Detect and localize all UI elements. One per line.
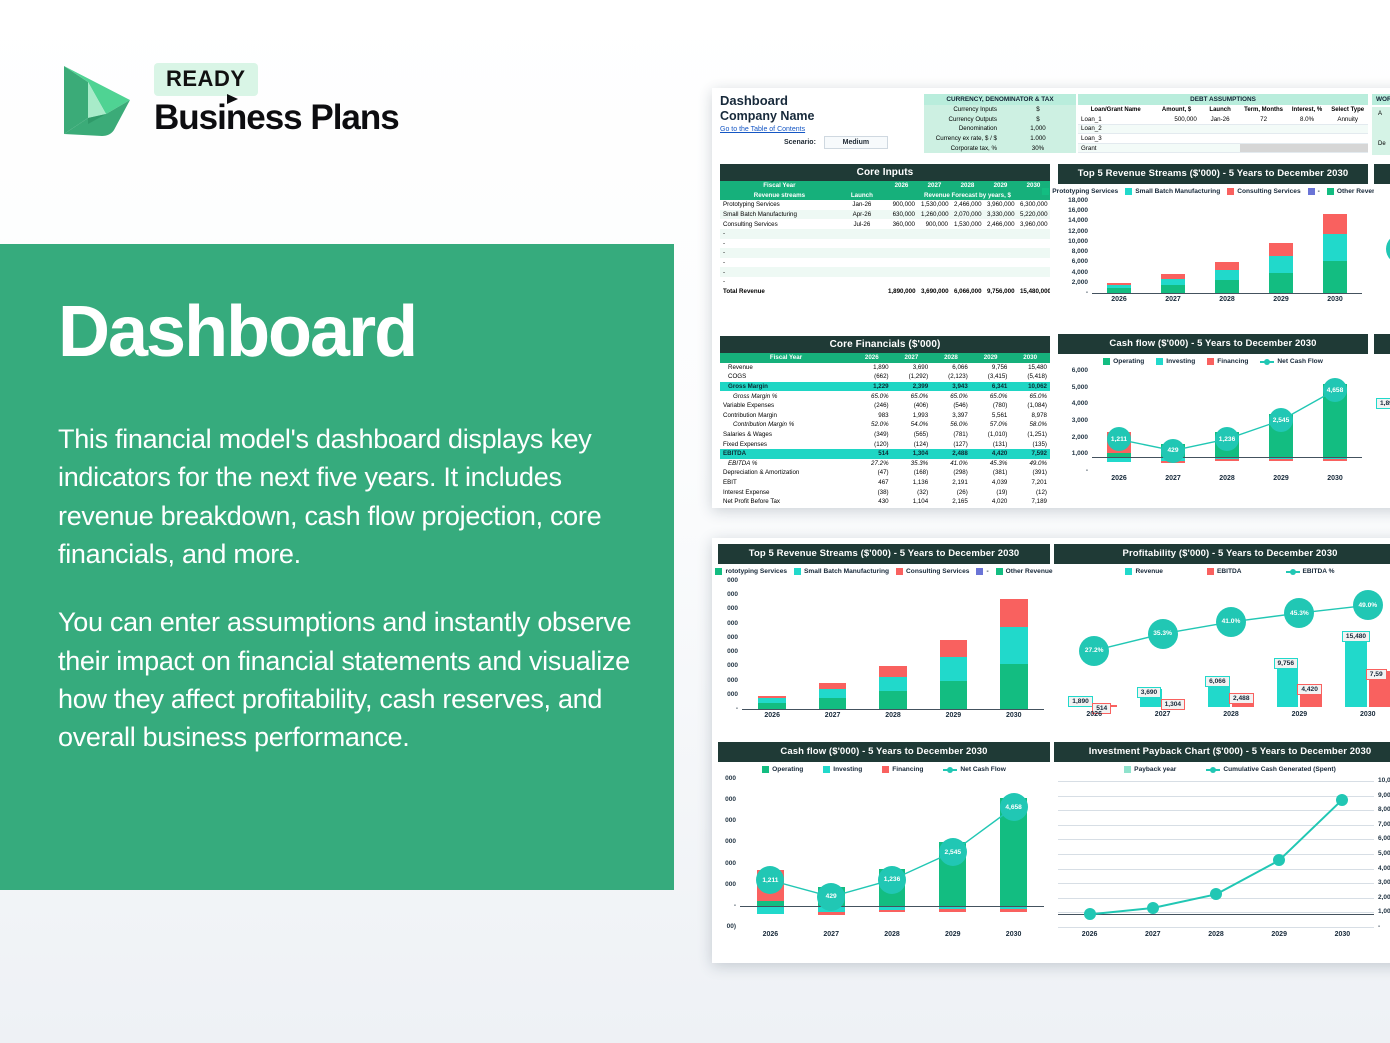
legend-swatch <box>996 568 1003 575</box>
legend-swatch <box>1103 358 1110 365</box>
chart-legend[interactable]: rototyping ServicesSmall Batch Manufactu… <box>718 564 1050 577</box>
legend-item[interactable]: Payback year <box>1124 766 1176 773</box>
stream-launch[interactable] <box>839 248 885 258</box>
row-value: 65.0% <box>852 391 892 401</box>
brand-ready-chip: READY <box>154 63 258 96</box>
row-value: (127) <box>931 439 971 449</box>
x-axis-label: 2028 <box>1211 296 1243 303</box>
row-label: Gross Margin <box>720 382 852 392</box>
bar-segment <box>819 683 847 689</box>
row-value: 41.0% <box>931 459 971 469</box>
bar-segment <box>758 696 786 699</box>
legend-swatch <box>823 766 830 773</box>
stream-value[interactable]: 900,000 <box>918 219 951 229</box>
stream-value[interactable]: 630,000 <box>885 210 918 220</box>
cell[interactable]: 8.0% <box>1287 115 1328 125</box>
stream-name[interactable]: Consulting Services <box>720 219 839 229</box>
legend-item[interactable]: Revenue <box>1125 568 1163 575</box>
row-value: 65.0% <box>931 391 971 401</box>
chart-legend[interactable]: Prototyping ServicesSmall Batch Manufact… <box>1058 184 1368 197</box>
table-row[interactable]: Tax Expense(129)(331)(649)(1,206)(2,157) <box>720 507 1050 509</box>
stream-name[interactable]: - <box>720 258 839 268</box>
data-point <box>1147 902 1159 914</box>
row-label: Salaries & Wages <box>720 430 852 440</box>
table-row[interactable]: Currency Outputs$ <box>924 115 1076 125</box>
cell[interactable]: Loan_3 <box>1078 134 1153 144</box>
table-row[interactable]: Small Batch ManufacturingApr-26630,0001,… <box>720 210 1050 220</box>
chart-cashflow-bottom[interactable]: Cash flow ($'000) - 5 Years to December … <box>718 742 1050 958</box>
cell[interactable] <box>1327 124 1368 134</box>
table-row[interactable]: Prototyping ServicesJan-26900,0001,530,0… <box>720 200 1050 210</box>
cell[interactable]: Annuity <box>1327 115 1368 125</box>
brand-logo: READY Business Plans <box>58 58 399 142</box>
stream-value[interactable]: 5,220,000 <box>1017 210 1050 220</box>
legend-item[interactable]: EBITDA <box>1207 568 1242 575</box>
currency-value[interactable]: $ <box>1000 105 1076 115</box>
stream-value[interactable]: 2,466,000 <box>984 219 1017 229</box>
row-label: Fixed Expenses <box>720 439 852 449</box>
intro-paragraph-1: This financial model's dashboard display… <box>58 420 640 573</box>
row-value: (391) <box>1010 468 1050 478</box>
stream-value[interactable] <box>918 258 951 268</box>
total-value: 3,690,000 <box>918 287 951 297</box>
table-row[interactable]: EBITDA %27.2%35.3%41.0%45.3%49.0% <box>720 459 1050 469</box>
chart-title: Investment Payback Chart ($'000) - 5 Yea… <box>1054 742 1390 762</box>
stream-launch[interactable] <box>839 267 885 277</box>
table-row[interactable]: Consulting ServicesJul-26360,000900,0001… <box>720 219 1050 229</box>
legend-label: Net Cash Flow <box>1277 358 1322 365</box>
table-row[interactable]: Salaries & Wages(349)(565)(781)(1,010)(1… <box>720 430 1050 440</box>
currency-table[interactable]: Currency Inputs$Currency Outputs$Denomin… <box>924 105 1076 153</box>
legend-swatch <box>1207 568 1214 575</box>
legend-item[interactable]: Cumulative Cash Generated (Spent) <box>1206 766 1335 773</box>
data-label: 1,890 <box>1376 398 1390 409</box>
legend-label: rototyping Services <box>725 568 787 575</box>
year-header: 2026 <box>852 353 892 363</box>
chart-plot-area: 000000000000000000-00)202620272028202920… <box>718 775 1050 945</box>
row-value: (331) <box>892 507 932 509</box>
row-value: 467 <box>852 478 892 488</box>
table-row[interactable]: - <box>720 258 1050 268</box>
legend-label: EBITDA % <box>1303 568 1335 575</box>
stream-value[interactable] <box>984 258 1017 268</box>
stream-value[interactable] <box>951 258 984 268</box>
cell[interactable] <box>1240 143 1286 153</box>
row-value: 2,488 <box>931 449 971 459</box>
legend-item[interactable]: Investing <box>1156 358 1195 365</box>
cell[interactable]: Grant <box>1078 143 1153 153</box>
legend-item[interactable]: - <box>1308 188 1320 195</box>
legend-item[interactable]: Investing <box>823 766 862 773</box>
row-value: 1,993 <box>892 411 932 421</box>
cell[interactable] <box>1240 124 1286 134</box>
y-axis-tick: 000 <box>718 591 738 598</box>
table-row[interactable]: Currency ex rate, $ / $1.000 <box>924 134 1076 144</box>
row-value: 4,020 <box>971 497 1011 507</box>
table-row[interactable]: Corporate tax, %30% <box>924 143 1076 153</box>
stream-value[interactable] <box>918 229 951 239</box>
legend-item[interactable]: Other Revenue <box>996 568 1053 575</box>
table-of-contents-link[interactable]: Go to the Table of Contents <box>720 126 814 133</box>
table-row[interactable]: COGS(662)(1,292)(2,123)(3,415)(5,418) <box>720 372 1050 382</box>
dashboard-sheet-bottom[interactable]: Top 5 Revenue Streams ($'000) - 5 Years … <box>712 538 1390 963</box>
row-label: Revenue <box>720 363 852 373</box>
play-triangle-logo-icon <box>58 58 136 142</box>
table-row[interactable]: Variable Expenses(246)(406)(546)(780)(1,… <box>720 401 1050 411</box>
core-financials-title: Core Financials ($'000) <box>720 336 1050 353</box>
stream-value[interactable] <box>951 229 984 239</box>
row-value: 4,039 <box>971 478 1011 488</box>
bar-segment <box>879 691 907 709</box>
legend-item[interactable]: rototyping Services <box>715 568 787 575</box>
sheet-company-name[interactable]: Company Name <box>720 109 814 123</box>
stream-value[interactable] <box>885 248 918 258</box>
stream-launch[interactable] <box>839 277 885 287</box>
stream-value[interactable] <box>984 277 1017 287</box>
row-value: 2,399 <box>892 382 932 392</box>
column-header: Launch <box>1200 105 1241 115</box>
cell[interactable]: Loan_1 <box>1078 115 1153 125</box>
stream-value[interactable] <box>918 277 951 287</box>
data-point <box>1084 908 1096 920</box>
stream-value[interactable] <box>1017 248 1050 258</box>
chart-title: Top 5 Revenue Streams ($'000) - 5 Years … <box>718 544 1050 564</box>
legend-item[interactable]: Net Cash Flow <box>1260 358 1322 365</box>
legend-item[interactable]: Small Batch Manufacturing <box>794 568 889 575</box>
stream-name[interactable]: - <box>720 248 839 258</box>
dashboard-sheet-top[interactable]: Dashboard Company Name Go to the Table o… <box>712 88 1390 508</box>
page-title: Dashboard <box>58 296 640 368</box>
cell[interactable]: Loan_2 <box>1078 124 1153 134</box>
legend-swatch <box>882 766 889 773</box>
table-row[interactable]: Loan_1500,000Jan-26728.0%Annuity <box>1078 115 1368 125</box>
table-row[interactable]: Gross Margin %65.0%65.0%65.0%65.0%65.0% <box>720 391 1050 401</box>
brand-name-text: Business Plans <box>154 98 399 137</box>
chart-legend[interactable]: Payback yearCumulative Cash Generated (S… <box>1054 762 1390 775</box>
row-value: (120) <box>852 439 892 449</box>
data-bubble: 27.2% <box>1386 234 1390 264</box>
legend-swatch <box>1156 358 1163 365</box>
row-value: (38) <box>852 487 892 497</box>
cell[interactable] <box>1327 134 1368 144</box>
row-value: (662) <box>852 372 892 382</box>
table-row[interactable]: Revenue1,8903,6906,0669,75615,480 <box>720 363 1050 373</box>
scenario-select[interactable]: Medium <box>824 136 888 149</box>
y-axis-tick: 8,000 <box>1058 248 1088 255</box>
data-bubble: 1,236 <box>878 866 906 894</box>
stream-value[interactable] <box>1017 239 1050 249</box>
table-row[interactable]: Interest Expense(38)(32)(26)(19)(12) <box>720 487 1050 497</box>
table-row[interactable]: Gross Margin1,2292,3993,9436,34110,062 <box>720 382 1050 392</box>
x-axis <box>742 709 1044 710</box>
intro-paragraph-2: You can enter assumptions and instantly … <box>58 603 640 756</box>
currency-value[interactable]: 1.000 <box>1000 134 1076 144</box>
row-value: (1,010) <box>971 430 1011 440</box>
stream-value[interactable]: 900,000 <box>885 200 918 210</box>
currency-value[interactable]: 30% <box>1000 143 1076 153</box>
chart-legend[interactable]: OperatingInvestingFinancingNet Cash Flow <box>1058 354 1368 367</box>
row-value: (124) <box>892 439 932 449</box>
stream-value[interactable] <box>918 248 951 258</box>
row-value: (12) <box>1010 487 1050 497</box>
row-value: 10,062 <box>1010 382 1050 392</box>
bar-segment <box>1161 285 1186 293</box>
y-axis-tick: 000 <box>718 634 738 641</box>
stream-name[interactable]: Prototyping Services <box>720 200 839 210</box>
core-inputs-table[interactable]: Fiscal Year20262027202820292030 Revenue … <box>720 181 1050 296</box>
chart-title: Cash flow ($'000) - 5 Years to December … <box>1058 334 1368 354</box>
legend-swatch <box>1286 571 1300 573</box>
bar-segment <box>879 666 907 677</box>
cell[interactable] <box>1153 143 1199 153</box>
y-axis-tick: 14,000 <box>1058 217 1088 224</box>
stream-value[interactable] <box>984 239 1017 249</box>
debt-assumptions-table[interactable]: Loan/Grant NameAmount, $LaunchTerm, Mont… <box>1078 105 1368 153</box>
stream-name[interactable]: - <box>720 229 839 239</box>
stream-value[interactable] <box>951 277 984 287</box>
row-value: 6,341 <box>971 382 1011 392</box>
stream-value[interactable] <box>885 277 918 287</box>
row-value: 7,189 <box>1010 497 1050 507</box>
stream-launch[interactable]: Jan-26 <box>839 200 885 210</box>
stream-launch[interactable]: Apr-26 <box>839 210 885 220</box>
chart-investment-payback[interactable]: Investment Payback Chart ($'000) - 5 Yea… <box>1054 742 1390 958</box>
total-label: Total Revenue <box>720 287 839 297</box>
table-row[interactable]: Contribution Margin9831,9933,3975,5618,9… <box>720 411 1050 421</box>
chart-profitability-clipped[interactable]: 27.2% <box>1374 164 1390 322</box>
y-axis-tick: 000 <box>718 605 738 612</box>
row-label: EBIT <box>720 478 852 488</box>
stream-value[interactable] <box>951 239 984 249</box>
bar-segment <box>1107 285 1132 288</box>
legend-swatch <box>762 766 769 773</box>
currency-value[interactable]: $ <box>1000 115 1076 125</box>
legend-item[interactable]: Consulting Services <box>896 568 969 575</box>
table-row[interactable]: Fixed Expenses(120)(124)(127)(131)(135) <box>720 439 1050 449</box>
stream-launch[interactable] <box>839 229 885 239</box>
cell[interactable]: Jan-26 <box>1200 115 1241 125</box>
legend-item[interactable]: Operating <box>1103 358 1144 365</box>
table-row[interactable]: - <box>720 267 1050 277</box>
stream-value[interactable] <box>885 267 918 277</box>
row-value: (129) <box>852 507 892 509</box>
y-axis-tick: 000 <box>718 577 738 584</box>
row-label: Contribution Margin % <box>720 420 852 430</box>
stream-value[interactable] <box>951 248 984 258</box>
spacer <box>839 181 885 191</box>
chart-legend[interactable]: RevenueEBITDAEBITDA % <box>1054 564 1390 577</box>
table-row[interactable]: Net Profit Before Tax4301,1042,1654,0207… <box>720 497 1050 507</box>
stream-value[interactable] <box>885 229 918 239</box>
legend-label: Cumulative Cash Generated (Spent) <box>1223 766 1335 773</box>
core-financials-table[interactable]: Fiscal Year20262027202820292030 Revenue1… <box>720 353 1050 508</box>
data-bubble: 41.0% <box>1216 607 1246 637</box>
chart-plot-area: 10,09,008,007,006,005,004,003,002,001,00… <box>1054 775 1390 945</box>
launch-label: Launch <box>839 191 885 201</box>
cell[interactable]: 72 <box>1240 115 1286 125</box>
cell[interactable] <box>1153 124 1199 134</box>
stream-value[interactable] <box>984 229 1017 239</box>
legend-swatch <box>1206 769 1220 771</box>
table-row[interactable]: Grant <box>1078 143 1368 153</box>
table-row[interactable]: EBITDA5141,3042,4884,4207,592 <box>720 449 1050 459</box>
stream-value[interactable] <box>885 239 918 249</box>
stream-value[interactable] <box>918 239 951 249</box>
legend-label: Prototyping Services <box>1052 188 1118 195</box>
cell[interactable] <box>1240 134 1286 144</box>
stream-launch[interactable] <box>839 258 885 268</box>
table-row[interactable]: Denomination1,000 <box>924 124 1076 134</box>
cell[interactable] <box>1287 134 1328 144</box>
row-value: 1,890 <box>852 363 892 373</box>
bar-segment <box>940 657 968 681</box>
row-value: (381) <box>971 468 1011 478</box>
stream-value[interactable] <box>1017 267 1050 277</box>
legend-label: - <box>1318 188 1320 195</box>
currency-label: Currency Inputs <box>924 105 1000 115</box>
legend-label: Small Batch Manufacturing <box>804 568 889 575</box>
stream-value[interactable]: 2,466,000 <box>951 200 984 210</box>
legend-item[interactable]: - <box>976 568 988 575</box>
legend-item[interactable]: Financing <box>882 766 923 773</box>
stream-value[interactable] <box>1017 258 1050 268</box>
chart-legend[interactable]: OperatingInvestingFinancingNet Cash Flow <box>718 762 1050 775</box>
chart-investment-clipped[interactable]: 1,890 <box>1374 334 1390 504</box>
stream-value[interactable] <box>984 248 1017 258</box>
stream-value[interactable] <box>984 267 1017 277</box>
stream-name[interactable]: - <box>720 267 839 277</box>
stream-value[interactable]: 3,330,000 <box>984 210 1017 220</box>
scenario-label: Scenario: <box>784 139 816 146</box>
table-row[interactable]: EBIT4671,1362,1914,0397,201 <box>720 478 1050 488</box>
cell[interactable] <box>1153 134 1199 144</box>
cell[interactable] <box>1327 143 1368 153</box>
row-value: 4,420 <box>971 449 1011 459</box>
table-row[interactable]: - <box>720 239 1050 249</box>
chart-revenue-streams-bottom[interactable]: Top 5 Revenue Streams ($'000) - 5 Years … <box>718 544 1050 739</box>
legend-item[interactable]: EBITDA % <box>1286 568 1335 575</box>
stream-value[interactable] <box>951 267 984 277</box>
stream-value[interactable] <box>1017 277 1050 287</box>
bar-segment <box>1161 279 1186 285</box>
row-value: 15,480 <box>1010 363 1050 373</box>
stream-launch[interactable]: Jul-26 <box>839 219 885 229</box>
stream-name[interactable]: - <box>720 239 839 249</box>
y-axis-tick: 000 <box>718 677 738 684</box>
year-header: 2028 <box>931 353 971 363</box>
legend-item[interactable]: Consulting Services <box>1227 188 1300 195</box>
chart-revenue-streams-top[interactable]: Top 5 Revenue Streams ($'000) - 5 Years … <box>1058 164 1368 322</box>
stream-value[interactable] <box>918 267 951 277</box>
row-label: EBITDA <box>720 449 852 459</box>
chart-plot-area: 18,00016,00014,00012,00010,0008,0006,000… <box>1058 197 1368 309</box>
bar-segment <box>1161 274 1186 279</box>
stream-value[interactable]: 3,960,000 <box>1017 219 1050 229</box>
stream-value[interactable]: 6,300,000 <box>1017 200 1050 210</box>
stream-value[interactable]: 1,260,000 <box>918 210 951 220</box>
cell[interactable] <box>1287 124 1328 134</box>
row-value: (47) <box>852 468 892 478</box>
bar-segment <box>1215 262 1240 270</box>
stream-value[interactable]: 360,000 <box>885 219 918 229</box>
table-row[interactable]: Loan_2 <box>1078 124 1368 134</box>
legend-item[interactable]: Small Batch Manufacturing <box>1125 188 1220 195</box>
table-row[interactable]: - <box>720 229 1050 239</box>
legend-swatch <box>976 568 983 575</box>
stream-name[interactable]: Small Batch Manufacturing <box>720 210 839 220</box>
row-value: (349) <box>852 430 892 440</box>
chart-title: Cash flow ($'000) - 5 Years to December … <box>718 742 1050 762</box>
core-inputs-title: Core Inputs <box>720 164 1050 181</box>
y-axis-tick: 6,000 <box>1058 258 1088 265</box>
row-value: (32) <box>892 487 932 497</box>
table-row[interactable]: Contribution Margin %52.0%54.0%56.0%57.0… <box>720 420 1050 430</box>
y-axis-tick: 10,000 <box>1058 238 1088 245</box>
legend-label: Small Batch Manufacturing <box>1135 188 1220 195</box>
stream-value[interactable]: 3,960,000 <box>984 200 1017 210</box>
y-axis-tick: 000 <box>718 648 738 655</box>
bar-segment <box>1323 234 1348 261</box>
table-row[interactable]: - <box>720 277 1050 287</box>
row-value: 65.0% <box>971 391 1011 401</box>
chart-plot-area: 1,89051420263,6901,30420276,0662,4882028… <box>1054 577 1390 725</box>
row-label: Variable Expenses <box>720 401 852 411</box>
table-row[interactable]: Currency Inputs$ <box>924 105 1076 115</box>
cell[interactable] <box>1200 124 1241 134</box>
row-value: 7,592 <box>1010 449 1050 459</box>
stream-launch[interactable] <box>839 239 885 249</box>
row-value: (3,415) <box>971 372 1011 382</box>
x-axis-label: 2026 <box>756 712 788 719</box>
legend-label: Operating <box>1113 358 1144 365</box>
currency-block-header: CURRENCY, DENOMINATOR & TAX <box>924 94 1076 105</box>
stream-value[interactable]: 2,070,000 <box>951 210 984 220</box>
stream-value[interactable]: 1,530,000 <box>951 219 984 229</box>
bar-segment <box>940 640 968 658</box>
legend-item[interactable]: Financing <box>1207 358 1248 365</box>
table-row[interactable]: Loan_3 <box>1078 134 1368 144</box>
table-row[interactable]: - <box>720 248 1050 258</box>
chart-title: Profitability ($'000) - 5 Years to Decem… <box>1054 544 1390 564</box>
table-row[interactable]: Depreciation & Amortization(47)(168)(298… <box>720 468 1050 478</box>
row-value: 56.0% <box>931 420 971 430</box>
stream-value[interactable]: 1,530,000 <box>918 200 951 210</box>
stream-value[interactable] <box>885 258 918 268</box>
y-axis-tick: 000 <box>718 662 738 669</box>
legend-item[interactable]: Net Cash Flow <box>943 766 1005 773</box>
legend-label: Investing <box>1166 358 1195 365</box>
currency-value[interactable]: 1,000 <box>1000 124 1076 134</box>
row-label: Net Profit Before Tax <box>720 497 852 507</box>
data-bubble: 27.2% <box>1079 636 1109 666</box>
cell[interactable] <box>1200 134 1241 144</box>
cell[interactable]: 500,000 <box>1153 115 1199 125</box>
legend-item[interactable]: Operating <box>762 766 803 773</box>
stream-value[interactable] <box>1017 229 1050 239</box>
chart-cashflow-top[interactable]: Cash flow ($'000) - 5 Years to December … <box>1058 334 1368 504</box>
stream-name[interactable]: - <box>720 277 839 287</box>
legend-item[interactable]: Prototyping Services <box>1042 188 1118 195</box>
chart-profitability[interactable]: Profitability ($'000) - 5 Years to Decem… <box>1054 544 1390 739</box>
cell[interactable] <box>1200 143 1241 153</box>
row-value: (246) <box>852 401 892 411</box>
y-axis-tick: 4,000 <box>1058 269 1088 276</box>
y-axis-tick: - <box>1058 289 1088 296</box>
row-value: (546) <box>931 401 971 411</box>
fiscal-year-label: Fiscal Year <box>720 181 839 191</box>
cell[interactable] <box>1287 143 1328 153</box>
row-value: 514 <box>852 449 892 459</box>
